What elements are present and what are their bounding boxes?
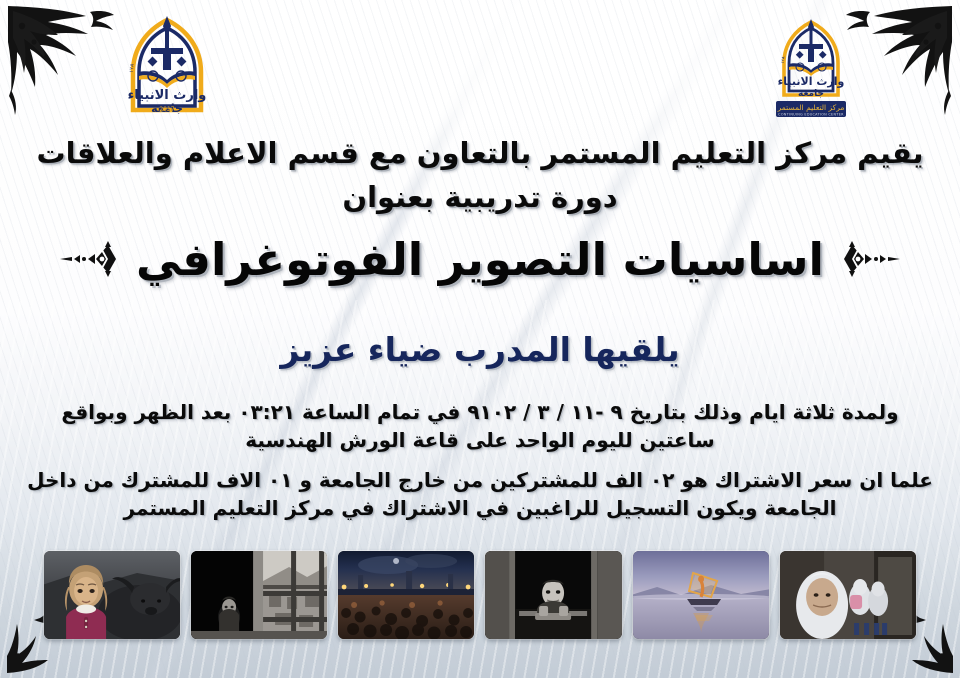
svg-text:CONTINUING EDUCATION CENTER: CONTINUING EDUCATION CENTER [778,113,844,117]
arabesque-diamond-ornament-left-icon [58,237,120,281]
trainer-row: يلقيها المدرب ضياء عزيز [0,325,960,373]
course-title-row: اساسيات التصوير الفوتوغرافي [0,228,960,290]
svg-text:جامعة: جامعة [798,89,824,99]
svg-text:2017: 2017 [159,106,174,113]
photo-girl-with-buffalo [44,551,180,639]
continuing-education-center-logo-right: وارث الانبياء جامعة UNIVERSITY OF WARITH… [768,17,854,121]
trainer-name: يلقيها المدرب ضياء عزيز [280,330,679,369]
corner-floral-ornament-top-right [836,2,956,122]
university-logo-left: وارث الانبياء جامعة 2017 UNIVERSITY OF W… [113,14,221,124]
svg-text:UNIVERSITY OF WARITH AL-ANBIYA: UNIVERSITY OF WARITH AL-ANBIYA [113,14,136,72]
details-line-2: ساعتين لليوم الواحد على قاعة الورش الهند… [0,428,960,452]
intro-line-2: دورة تدريبية بعنوان [0,180,960,214]
poster-canvas: وارث الانبياء جامعة 2017 UNIVERSITY OF W… [0,0,960,678]
photo-girl-in-white-headscarf [780,551,916,639]
svg-text:UNIVERSITY OF WARITH AL-ANBIYA: UNIVERSITY OF WARITH AL-ANBIYA [768,17,786,63]
photo-night-crowd-pilgrimage [338,551,474,639]
details-line-4: الجامعة ويكون التسجيل للراغبين في الاشتر… [0,496,960,520]
intro-line-1: يقيم مركز التعليم المستمر بالتعاون مع قس… [0,136,960,170]
svg-text:وارث الانبياء: وارث الانبياء [778,75,845,88]
photo-gallery-strip [44,551,916,639]
photo-boy-in-dark-doorway-bw [485,551,621,639]
details-line-3: علما ان سعر الاشتراك هو ٢٠ الف للمشتركين… [0,468,960,492]
arabesque-diamond-ornament-right-icon [840,237,902,281]
svg-text:مركز التعليم المستمر: مركز التعليم المستمر [777,103,845,112]
corner-floral-ornament-top-left [4,2,124,122]
photo-woman-through-window-bw [191,551,327,639]
course-title: اساسيات التصوير الفوتوغرافي [136,233,824,286]
details-line-1: ولمدة ثلاثة ايام وذلك بتاريخ ٩ -١١ / ٣ /… [0,400,960,424]
svg-text:وارث الانبياء: وارث الانبياء [128,88,207,103]
photo-fisherman-on-lake-at-dusk [633,551,769,639]
